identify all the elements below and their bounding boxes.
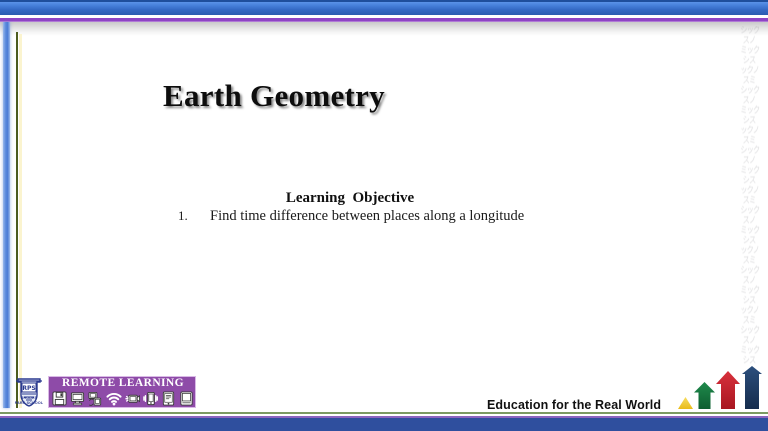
objective-list-item: 1. Find time difference between places a… [178,208,638,225]
left-olive-line [16,32,18,408]
watermark-glyphs: シック [740,206,758,216]
watermark-glyphs: ミック [740,106,758,116]
watermark-glyphs: ミック [740,346,758,356]
watermark-glyphs: ックノ [740,186,758,196]
school-crest-label: RHODES PARK SCHOOL [5,396,53,405]
watermark-glyphs: シス [740,356,758,366]
watermark-glyphs: ックノ [740,246,758,256]
watermark-glyphs: スミ [740,196,758,206]
floppy-disk-icon [52,391,67,406]
watermark-glyphs: スミ [740,136,758,146]
desktop-computer-icon [70,391,85,406]
watermark-glyphs: スミ [740,256,758,266]
top-blue-band [0,2,768,15]
slide-title: Earth Geometry [163,78,385,114]
watermark-glyphs: スノ [740,336,758,346]
navy-arrow [742,366,762,409]
ascending-arrows-graphic [676,366,764,412]
watermark-glyphs: スノ [740,96,758,106]
watermark-glyphs: スノ [740,276,758,286]
watermark-glyphs: シス [740,236,758,246]
smartphone-call-icon [143,391,158,406]
watermark-glyphs: シック [740,26,758,36]
watermark-glyphs: シス [740,56,758,66]
watermark-glyphs: ミック [740,226,758,236]
wifi-icon [106,391,122,406]
watermark-glyphs: ミック [740,166,758,176]
video-camera-icon [125,391,140,406]
right-edge-watermark: シック スノ ミック シス ックノ スミ シック スノ ミック シス ックノ ス… [738,26,760,378]
watermark-glyphs: シス [740,176,758,186]
red-arrow [716,371,740,409]
list-item-number: 1. [178,208,210,224]
remote-learning-title: REMOTE LEARNING [49,376,197,390]
watermark-glyphs: ミック [740,46,758,56]
watermark-glyphs: シック [740,266,758,276]
watermark-glyphs: ックノ [740,126,758,136]
watermark-glyphs: シック [740,86,758,96]
top-shadow-fade [0,22,768,36]
bottom-blue-band [0,418,768,431]
svg-text:RPS: RPS [22,385,35,392]
watermark-glyphs: ックノ [740,66,758,76]
watermark-glyphs: スミ [740,76,758,86]
watermark-glyphs: ミック [740,286,758,296]
slide-canvas: シック スノ ミック シス ックノ スミ シック スノ ミック シス ックノ ス… [0,0,768,431]
tagline-text: Education for the Real World [487,398,661,412]
remote-learning-banner: REMOTE LEARNING [48,376,196,408]
watermark-glyphs: ックノ [740,306,758,316]
left-blue-bar [3,22,10,408]
watermark-glyphs: スノ [740,36,758,46]
green-arrow [694,382,715,409]
e-reader-icon [179,391,194,406]
tablet-document-icon [161,391,176,406]
objective-heading: Learning Objective [0,190,700,207]
left-cream-line [19,34,22,408]
watermark-glyphs: シス [740,296,758,306]
watermark-glyphs: スノ [740,156,758,166]
yellow-arrow [678,397,693,409]
list-item-text: Find time difference between places alon… [210,208,638,225]
watermark-glyphs: シック [740,146,758,156]
devices-sync-icon [88,391,103,406]
watermark-glyphs: スミ [740,316,758,326]
watermark-glyphs: スノ [740,216,758,226]
remote-learning-icon-row [51,390,195,407]
watermark-glyphs: シス [740,116,758,126]
crest-line-2: PARK SCHOOL [5,401,53,406]
watermark-glyphs: シック [740,326,758,336]
